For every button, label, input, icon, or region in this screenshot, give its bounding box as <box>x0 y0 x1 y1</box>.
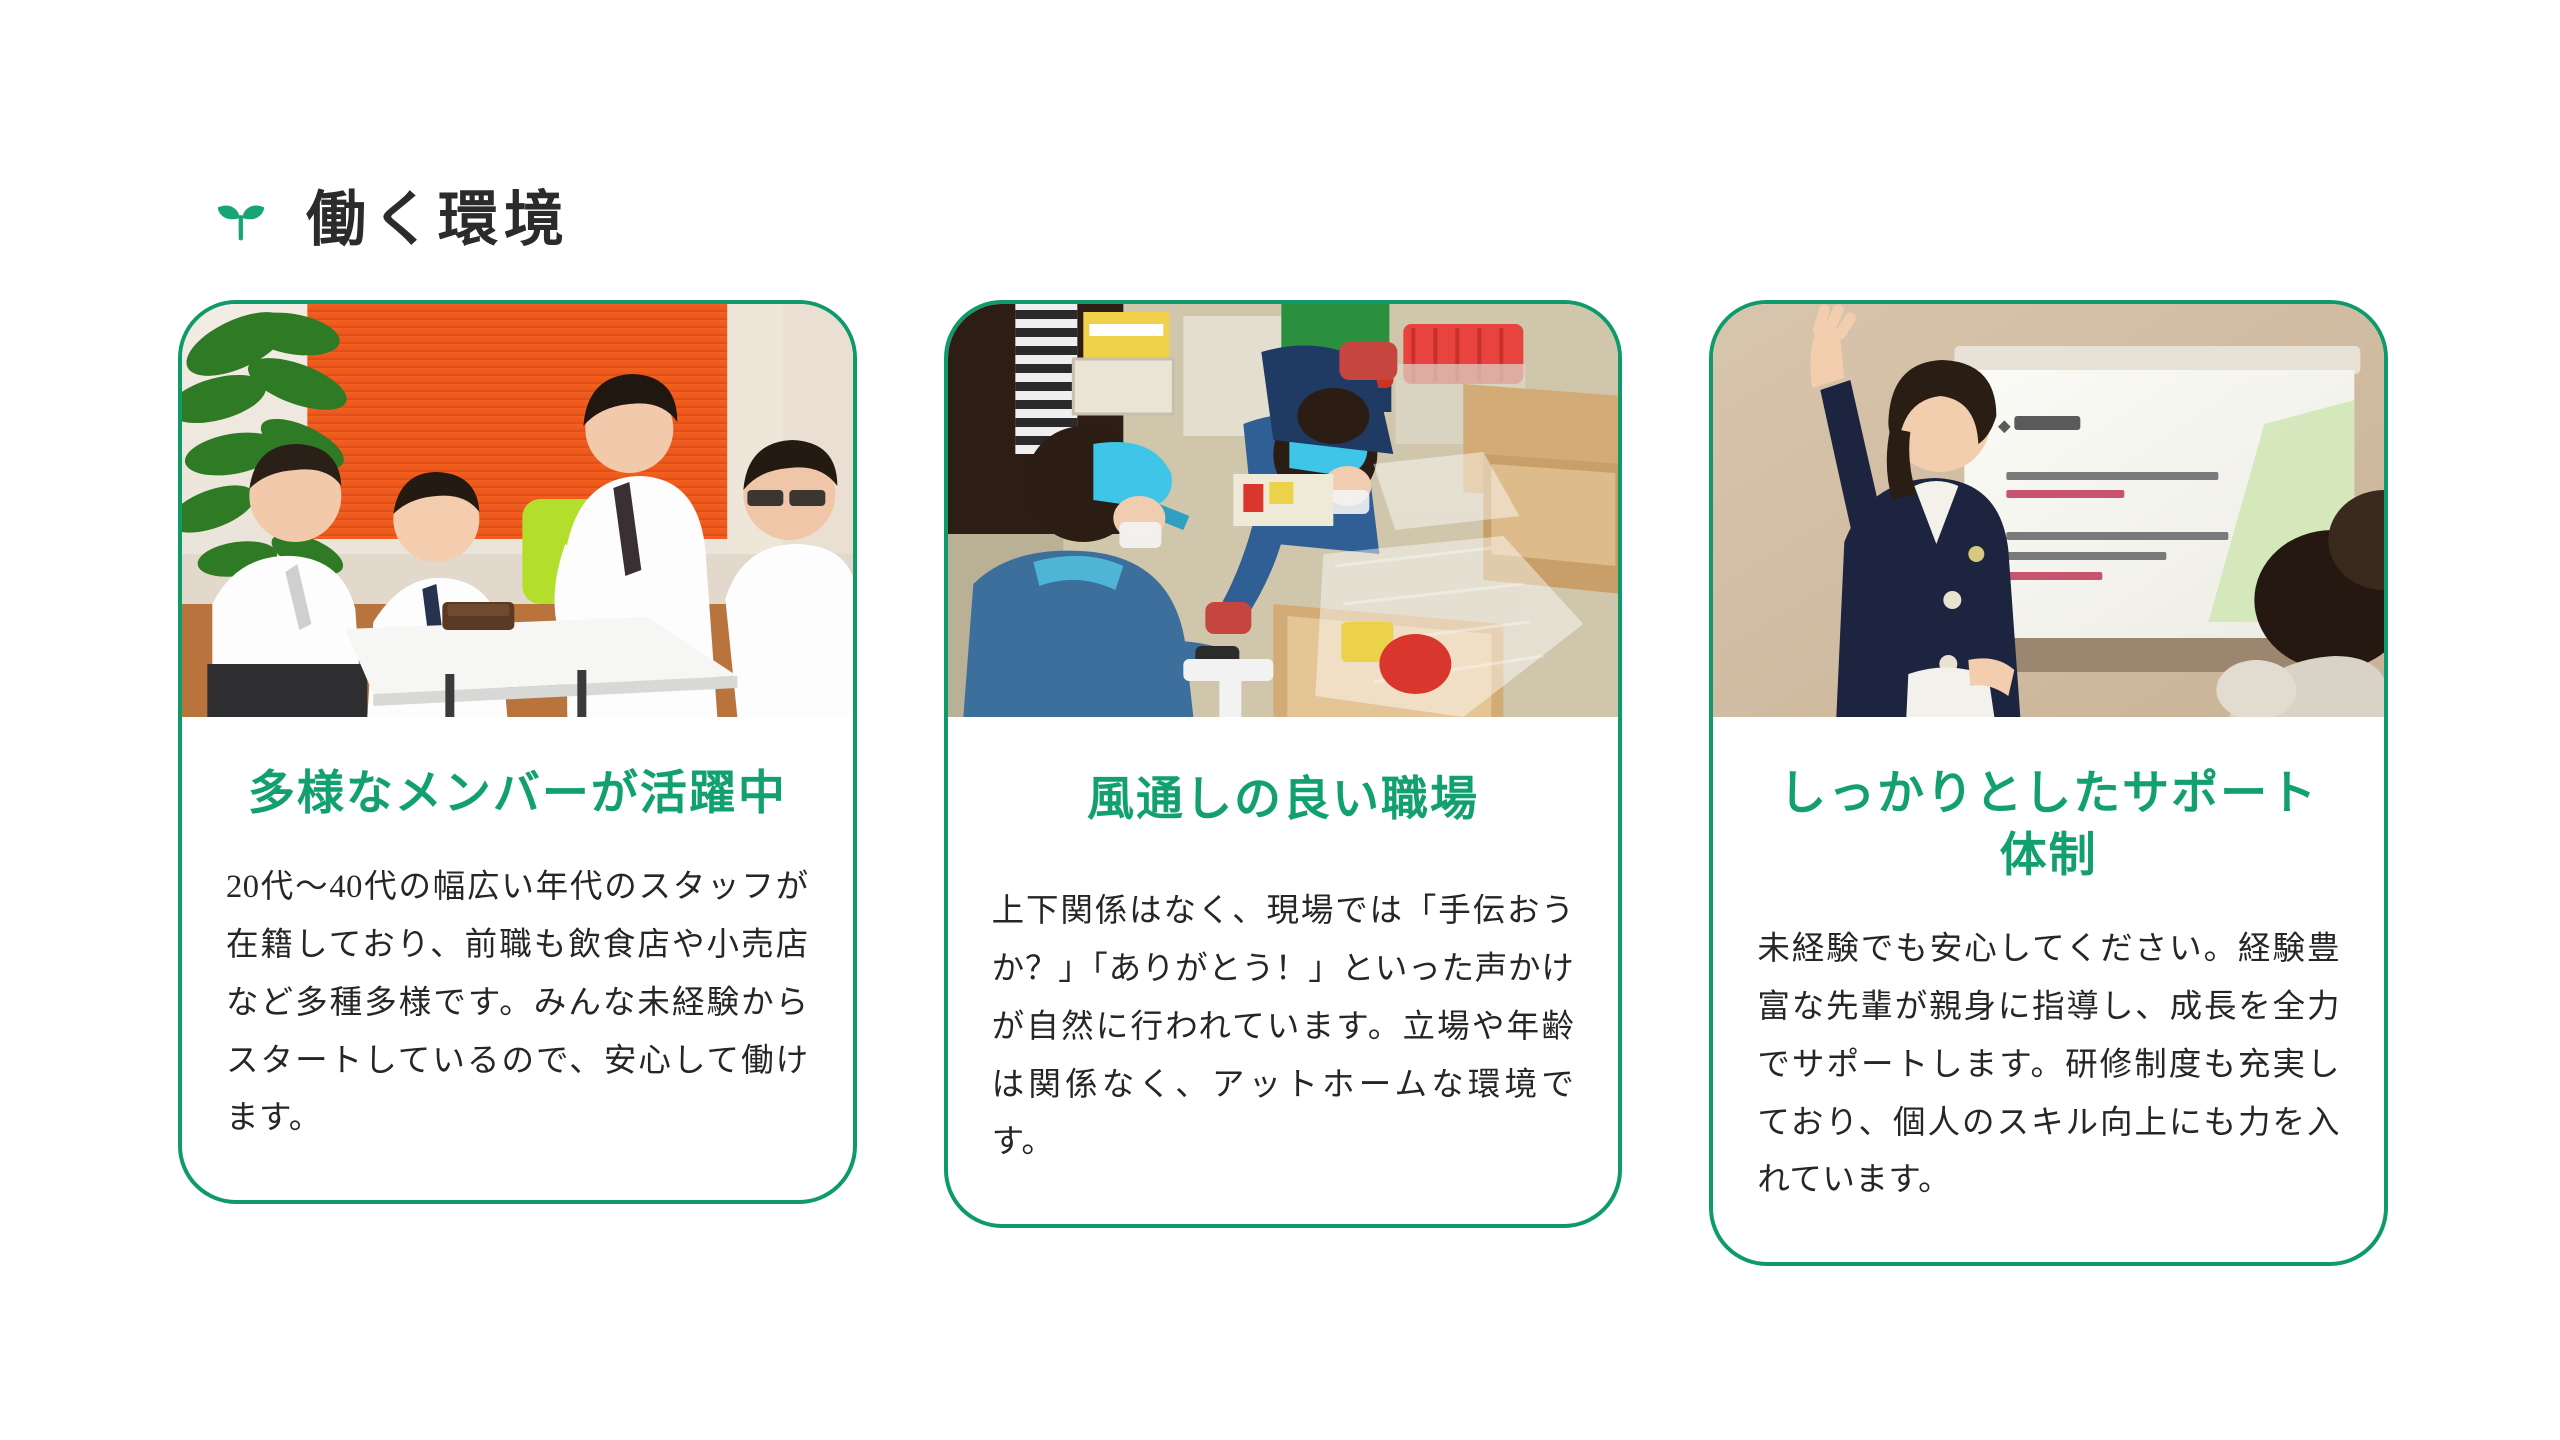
feature-card-list: 多様なメンバーが活躍中 20代〜40代の幅広い年代のスタッフが在籍しており、前職… <box>178 300 2388 1266</box>
section-header: 働く環境 <box>210 140 570 300</box>
page-title: 働く環境 <box>306 190 570 250</box>
card-image-training-seminar <box>1713 304 2384 717</box>
card-text: 上下関係はなく、現場では「手伝おうか？」「ありがとう！」といった声かけが自然に行… <box>992 883 1575 1172</box>
feature-card[interactable]: しっかりとしたサポート体制 未経験でも安心してください。経験豊富な先輩が親身に指… <box>1709 300 2388 1266</box>
feature-card[interactable]: 風通しの良い職場 上下関係はなく、現場では「手伝おうか？」「ありがとう！」といっ… <box>944 300 1623 1228</box>
sprout-icon <box>210 189 272 251</box>
feature-card[interactable]: 多様なメンバーが活躍中 20代〜40代の幅広い年代のスタッフが在籍しており、前職… <box>178 300 857 1204</box>
card-image-warehouse-sorting <box>948 304 1619 717</box>
card-image-office-meeting <box>182 304 853 717</box>
card-body: しっかりとしたサポート体制 未経験でも安心してください。経験豊富な先輩が親身に指… <box>1713 717 2384 1262</box>
card-title: 多様なメンバーが活躍中 <box>226 763 809 825</box>
card-title: 風通しの良い職場 <box>992 769 1575 831</box>
card-body: 多様なメンバーが活躍中 20代〜40代の幅広い年代のスタッフが在籍しており、前職… <box>182 717 853 1200</box>
card-text: 未経験でも安心してください。経験豊富な先輩が親身に指導し、成長を全力でサポートし… <box>1757 921 2340 1210</box>
card-body: 風通しの良い職場 上下関係はなく、現場では「手伝おうか？」「ありがとう！」といっ… <box>948 717 1619 1224</box>
card-title: しっかりとしたサポート体制 <box>1757 763 2340 887</box>
page-root: 働く環境 <box>0 0 2560 1440</box>
card-text: 20代〜40代の幅広い年代のスタッフが在籍しており、前職も飲食店や小売店など多種… <box>226 859 809 1148</box>
